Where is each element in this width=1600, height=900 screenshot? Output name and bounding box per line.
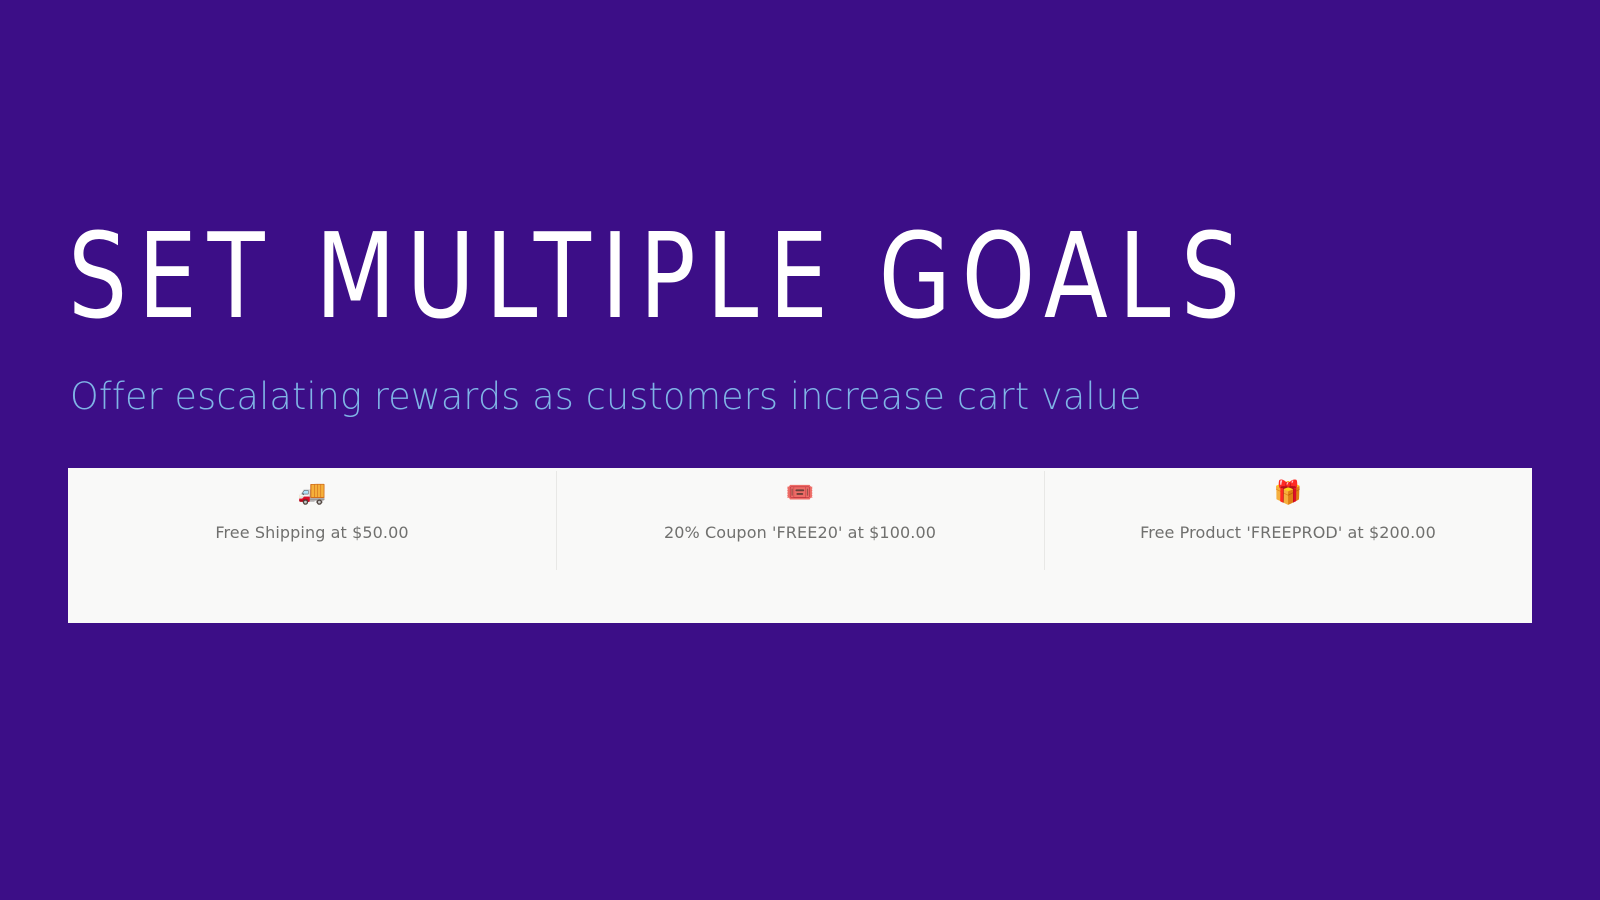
goal-label: Free Shipping at $50.00 [215, 522, 408, 544]
goals-panel: 🚚 Free Shipping at $50.00 🎟️ 20% Coupon … [68, 468, 1532, 623]
page-subtitle: Offer escalating rewards as customers in… [70, 372, 1142, 422]
goal-item-coupon[interactable]: 🎟️ 20% Coupon 'FREE20' at $100.00 [556, 468, 1044, 623]
goal-label: 20% Coupon 'FREE20' at $100.00 [664, 522, 936, 544]
hero-banner: SET MULTIPLE GOALS Offer escalating rewa… [0, 0, 1600, 900]
goal-label: Free Product 'FREEPROD' at $200.00 [1140, 522, 1436, 544]
goal-item-free-product[interactable]: 🎁 Free Product 'FREEPROD' at $200.00 [1044, 468, 1532, 623]
coupon-ticket-icon: 🎟️ [786, 478, 815, 508]
delivery-truck-icon: 🚚 [298, 478, 327, 508]
gift-box-icon: 🎁 [1274, 478, 1303, 508]
goal-item-free-shipping[interactable]: 🚚 Free Shipping at $50.00 [68, 468, 556, 623]
page-title: SET MULTIPLE GOALS [68, 216, 1251, 336]
